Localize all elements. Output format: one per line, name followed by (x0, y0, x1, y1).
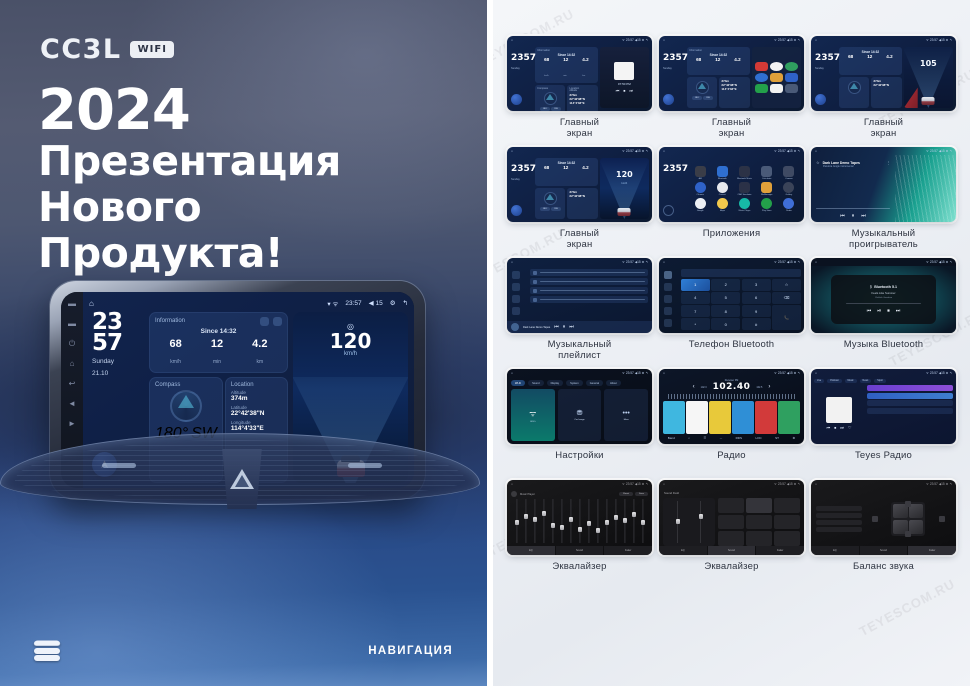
station-list[interactable] (867, 385, 953, 442)
camera-icon[interactable] (783, 166, 794, 177)
dialpad-key[interactable]: 2 (711, 279, 740, 291)
folder-icon[interactable] (761, 182, 772, 193)
contacts-icon[interactable] (664, 283, 672, 291)
app-item[interactable]: Google (690, 198, 710, 212)
search-icon[interactable]: ⌕ (688, 436, 690, 440)
hw-button-mute[interactable]: ▬ (68, 320, 76, 328)
app-item[interactable]: FileManager (757, 182, 777, 196)
previous-icon[interactable]: ⏮ (554, 324, 559, 330)
app-icon[interactable] (785, 73, 798, 82)
tab-sound[interactable]: Sound (528, 380, 544, 386)
station-item[interactable] (867, 400, 953, 406)
mini-player-bar[interactable]: Dark Lane Demo Tapes ⏮ ⏸ ⏭ (507, 321, 652, 333)
tab-wifi[interactable]: Wi-Fi (511, 380, 525, 386)
favorite-icon[interactable]: ☆ (816, 160, 820, 165)
chrome-icon[interactable] (695, 182, 706, 193)
mini-media-card[interactable]: 07:50 PM ⏮⏹⏭ (600, 47, 649, 108)
preset-grid[interactable] (718, 498, 800, 546)
eq-knob[interactable] (578, 527, 582, 532)
preset-button[interactable] (816, 527, 862, 532)
seek-up-icon[interactable]: › (768, 384, 770, 390)
mini-compass-card[interactable]: 180°SW (535, 188, 565, 219)
thumb-home-drive[interactable]: ⌂ᯤ 23:57 ◀15 ⚙ ↰ 2357Sunday Since 14:32 … (811, 36, 956, 111)
app-icon[interactable] (785, 84, 798, 93)
thumb-music-playlist[interactable]: ⌂ᯤ 23:57 ◀15 ⚙ ↰ (507, 258, 652, 333)
preset-cell[interactable] (774, 531, 800, 546)
gallery-cell[interactable]: ⌂ᯤ 23:57 ◀15 ⚙ ↰ 2357Sunday Since 14:32 … (507, 147, 652, 254)
thumb-home-apps[interactable]: ⌂ᯤ 23:57 ◀15 ⚙ ↰ 2357Sunday Information … (659, 36, 804, 111)
balance-presets[interactable] (816, 506, 862, 532)
playback-controls[interactable]: ⏮⏹⏭♡ (827, 425, 852, 430)
app-item[interactable]: Contact (712, 182, 732, 196)
station-item[interactable] (867, 408, 953, 414)
folders-icon[interactable] (512, 307, 520, 315)
app-item[interactable]: Camera (779, 166, 799, 180)
app-icon[interactable] (770, 73, 783, 82)
dialpad-key[interactable]: 9 (742, 305, 771, 317)
previous-icon[interactable]: ⏮ (616, 88, 620, 93)
app-item[interactable]: Music Player (734, 198, 754, 212)
playlist-sidebar[interactable] (507, 266, 526, 321)
equalizer-icon[interactable]: ⏤ (720, 436, 722, 440)
teyes-radio-page[interactable]: Live Podcast Music News Sport ⏮ (811, 377, 956, 444)
thumb-bt-phone[interactable]: ⌂ᯤ 23:57 ◀15 ⚙ ↰ 1 (659, 258, 804, 333)
eq-band[interactable] (513, 499, 520, 543)
thumb-home-speed[interactable]: ⌂ᯤ 23:57 ◀15 ⚙ ↰ 2357Sunday Since 14:32 … (507, 147, 652, 222)
eq-band[interactable] (522, 499, 529, 543)
contacts-icon[interactable] (717, 182, 728, 193)
call-icon[interactable]: 📞 (772, 305, 801, 330)
tab-sound-field[interactable]: Sound (708, 546, 756, 555)
reset-button[interactable]: Reset (619, 492, 633, 496)
stat-distance-unit: km (256, 359, 263, 365)
fader-rear-button[interactable] (905, 531, 911, 537)
refresh-icon[interactable] (260, 317, 269, 326)
next-icon[interactable]: ⏭ (861, 213, 866, 219)
list-item[interactable] (530, 278, 648, 285)
balance-page[interactable] (811, 488, 956, 546)
previous-icon[interactable]: ⏮ (827, 425, 831, 430)
backspace-icon[interactable]: ⌫ (772, 292, 801, 304)
tab-sound-field[interactable]: Sound (860, 546, 908, 555)
mini-information-card[interactable]: Since 14:32 68 12 4.2 (839, 47, 902, 75)
eq-band[interactable] (621, 499, 628, 543)
tab-eq[interactable]: EQ (507, 546, 555, 555)
eq-knob[interactable] (632, 512, 636, 517)
station-item[interactable] (867, 385, 953, 391)
tab-sound-field[interactable]: Sound (556, 546, 604, 555)
tab-balance[interactable]: Fader (756, 546, 804, 555)
gallery-cell[interactable]: ⌂ᯤ 23:57 ◀15 ⚙ ↰ 2357Sunday Since 14:32 … (811, 36, 956, 143)
gallery-cell[interactable]: ⌂ᯤ 23:57 ◀15 ⚙ ↰ ☆ Dark Lane Demo Tapes … (811, 147, 956, 254)
bt-music-card: ᛒBluetooth 5.1 Feels Like Summer Childis… (831, 275, 935, 325)
list-item[interactable] (530, 296, 648, 303)
information-card[interactable]: Information Since 14:32 (149, 312, 288, 373)
progress-bar[interactable] (816, 208, 890, 210)
mini-information-card[interactable]: Information Since 14:32 68 12 4.2 (687, 47, 750, 75)
dialpad-key[interactable]: * (681, 318, 710, 330)
thumb-equalizer[interactable]: ⌂ᯤ 23:57 ◀15 ⚙ ↰ Music Player ResetSave (507, 480, 652, 555)
dialpad-key[interactable]: 0 (711, 318, 740, 330)
slider-knob[interactable] (676, 519, 680, 524)
thumb-settings[interactable]: ⌂ᯤ 23:57 ◀15 ⚙ ↰ Wi-Fi Sound Display Sys… (507, 369, 652, 444)
app-label: CAR Simulator (738, 194, 752, 196)
clock-day: Sunday (92, 358, 144, 366)
settings-page[interactable]: Wi-Fi Sound Display System General About… (507, 377, 652, 444)
eq-band[interactable] (603, 499, 610, 543)
navigation-fab[interactable] (511, 94, 522, 105)
thumb-status-bar: ⌂ᯤ 23:57 ◀15 ⚙ ↰ (659, 480, 804, 488)
eq-band[interactable] (567, 499, 574, 543)
tuner-row[interactable]: ‹ 102.3 102.40 102.5 › (662, 382, 801, 392)
thumb-caption: Музыкальныйпроигрыватель (849, 229, 918, 254)
eq-band[interactable] (576, 499, 583, 543)
app-grid[interactable]: AM Bluetooth Bluetooth Music Calculator … (685, 155, 804, 222)
volume-down-icon[interactable]: ◄ (68, 400, 76, 408)
app-label: Maps (720, 210, 725, 212)
equalizer-tabs[interactable]: EQ Sound Fader (811, 546, 956, 555)
equalizer-bands[interactable] (511, 499, 648, 546)
app-item[interactable]: Bluetooth Music (734, 166, 754, 180)
thumb-teyes-radio[interactable]: ⌂ᯤ 23:57 ◀15 ⚙ ↰ Live Podcast Music News… (811, 369, 956, 444)
tab-live[interactable]: Live (814, 379, 824, 383)
back-icon[interactable]: ↰ (403, 299, 408, 307)
dialpad-icon[interactable] (664, 271, 672, 279)
tab-general[interactable]: General (586, 380, 603, 386)
more-card[interactable]: •••More (604, 389, 648, 441)
media-controls[interactable]: ⏮⏹⏭ (616, 88, 633, 93)
list-item[interactable] (530, 269, 648, 276)
eq-knob[interactable] (614, 515, 618, 520)
next-icon[interactable]: ⏭ (896, 308, 901, 314)
app-icon[interactable] (695, 166, 706, 177)
balance-pad-area[interactable] (866, 502, 951, 536)
eq-knob[interactable] (596, 528, 600, 533)
tab-podcast[interactable]: Podcast (827, 379, 841, 383)
dialpad-key[interactable]: 1 (681, 279, 710, 291)
eq-knob[interactable] (587, 521, 591, 526)
home-icon[interactable]: ⌂ (89, 299, 94, 308)
settings-icon[interactable]: ⚙ (793, 436, 796, 440)
thumb-equalizer-2[interactable]: ⌂ᯤ 23:57 ◀15 ⚙ ↰ Sound Field (659, 480, 804, 555)
dialpad-key[interactable]: # (742, 318, 771, 330)
dialpad-key[interactable]: 8 (711, 305, 740, 317)
eq-knob[interactable] (605, 520, 609, 525)
app-item[interactable]: Chrome (690, 182, 710, 196)
navigation-fab[interactable] (511, 205, 522, 216)
tab-balance[interactable]: Fader (604, 546, 652, 555)
google-icon[interactable] (695, 198, 706, 209)
track-thumb (533, 280, 537, 284)
slider[interactable] (677, 501, 678, 543)
search-icon[interactable] (512, 283, 520, 291)
tab-system[interactable]: System (566, 380, 583, 386)
app-item[interactable]: Radio (779, 198, 799, 212)
next-icon[interactable]: ⏭ (840, 425, 844, 430)
thumb-bt-music[interactable]: ⌂ᯤ 23:57 ◀15 ⚙ ↰ ᛒBluetooth 5.1 Feels Li… (811, 258, 956, 333)
preset-button[interactable] (732, 401, 754, 434)
seek-down-icon[interactable]: ‹ (693, 384, 695, 390)
back-icon[interactable]: ↩ (68, 380, 76, 388)
app-icon[interactable] (755, 84, 768, 93)
preset-button[interactable] (709, 401, 731, 434)
eq-knob[interactable] (542, 511, 546, 516)
preset-cell[interactable] (718, 531, 744, 546)
eq-band[interactable] (558, 499, 565, 543)
radio-presets[interactable] (662, 401, 801, 434)
gallery-cell[interactable]: ⌂ᯤ 23:57 ◀15 ⚙ ↰ (811, 480, 956, 587)
preset-cell[interactable] (774, 498, 800, 513)
play-pause-icon[interactable]: ⏯ (877, 308, 881, 314)
app-item[interactable]: Maps (712, 198, 732, 212)
gallery-cell[interactable]: ⌂ᯤ 23:57 ◀15 ⚙ ↰ ᛒBluetooth 5.1 Feels Li… (811, 258, 956, 365)
mini-clock: 2357Sunday (659, 44, 685, 111)
slider-knob[interactable] (699, 514, 703, 519)
equalizer-tabs[interactable]: EQ Sound Fader (507, 546, 652, 555)
next-icon[interactable]: ⏭ (629, 88, 633, 93)
list-icon[interactable]: ☰ (703, 436, 706, 440)
eq-band[interactable] (630, 499, 637, 543)
tab-news[interactable]: News (860, 379, 872, 383)
equalizer-actions[interactable]: ResetSave (619, 492, 648, 496)
app-item[interactable]: Calculator (757, 166, 777, 180)
preset-button[interactable] (663, 401, 685, 434)
dialpad-key[interactable]: 4 (681, 292, 710, 304)
call-history-icon[interactable] (664, 307, 672, 315)
expand-icon[interactable] (273, 317, 282, 326)
gallery-cell[interactable]: ⌂ᯤ 23:57 ◀15 ⚙ ↰ Receiver FM ‹ 102.3 102… (659, 369, 804, 476)
footer-label: НАВИГАЦИЯ (368, 645, 453, 657)
thumb-status-bar: ⌂ᯤ 23:57 ◀15 ⚙ ↰ (659, 36, 804, 44)
app-icon[interactable] (755, 62, 768, 71)
preset-cell[interactable] (774, 515, 800, 530)
tab-balance[interactable]: Fader (908, 546, 956, 555)
dialpad-keys[interactable]: 1 2 3 ☆ 4 5 6 ⌫ 7 8 9 📞 (681, 279, 801, 330)
thumb-app-drawer[interactable]: ⌂ᯤ 23:57 ◀15 ⚙ ↰ 2357 AM Bluetooth Bluet… (659, 147, 804, 222)
gallery-cell[interactable]: ⌂ᯤ 23:57 ◀15 ⚙ ↰ 1 (659, 258, 804, 365)
previous-icon[interactable]: ⏮ (867, 308, 872, 314)
eq-band[interactable] (594, 499, 601, 543)
thumb-music-player[interactable]: ⌂ᯤ 23:57 ◀15 ⚙ ↰ ☆ Dark Lane Demo Tapes … (811, 147, 956, 222)
playlist-rows[interactable] (526, 266, 652, 321)
settings-cards[interactable]: ᯤWi-Fi ⛃Car Image •••More (511, 389, 648, 441)
gallery-icon[interactable] (783, 182, 794, 193)
preset-button[interactable] (816, 506, 862, 511)
preset-button[interactable] (816, 513, 862, 518)
app-item[interactable]: Bluetooth (712, 166, 732, 180)
eq-knob[interactable] (524, 514, 528, 519)
gallery-cell[interactable]: ⌂ᯤ 23:57 ◀15 ⚙ ↰ (507, 258, 652, 365)
eq-knob[interactable] (569, 517, 573, 522)
balance-left-button[interactable] (872, 516, 878, 522)
pause-icon[interactable]: ⏸ (852, 213, 855, 219)
preset-button[interactable] (755, 401, 777, 434)
settings-icon[interactable] (664, 319, 672, 327)
fader-front-button[interactable] (905, 501, 911, 507)
mini-compass-card[interactable] (839, 77, 869, 108)
mini-location-card[interactable]: 374m22°42'38"N (871, 77, 901, 108)
app-icon[interactable] (770, 62, 783, 71)
eq-band[interactable] (531, 499, 538, 543)
calculator-icon[interactable] (761, 166, 772, 177)
progress-bar[interactable] (846, 303, 921, 305)
preset-cell[interactable] (718, 498, 744, 513)
pause-icon[interactable]: ⏸ (563, 324, 566, 330)
navigation-fab[interactable] (663, 94, 674, 105)
mini-drive-view[interactable]: 105 (904, 47, 953, 108)
stereo-icon[interactable]: ST (775, 436, 779, 440)
app-label: FileManager (761, 194, 773, 196)
balance-right-button[interactable] (939, 516, 945, 522)
previous-icon[interactable]: ⏮ (840, 213, 845, 219)
vent-slider-right[interactable] (348, 463, 382, 468)
mini-information-card[interactable]: Since 14:32 68 12 4.2 (535, 158, 598, 186)
gallery-cell[interactable]: ⌂ᯤ 23:57 ◀15 ⚙ ↰ Music Player ResetSave (507, 480, 652, 587)
favorites-icon[interactable] (512, 295, 520, 303)
preset-cell[interactable] (718, 515, 744, 530)
phone-sidebar[interactable] (659, 266, 678, 333)
tab-eq[interactable]: EQ (659, 546, 707, 555)
all-songs-icon[interactable] (512, 271, 520, 279)
eq-knob[interactable] (623, 518, 627, 523)
eq-knob[interactable] (515, 520, 519, 525)
speed-readout: ◎ 120 km/h (293, 322, 408, 357)
information-actions[interactable] (260, 317, 282, 326)
gear-icon[interactable]: ⚙ (390, 299, 396, 307)
gallery-cell[interactable]: ⌂ᯤ 23:57 ◀15 ⚙ ↰ Live Podcast Music News… (811, 369, 956, 476)
thumb-radio[interactable]: ⌂ᯤ 23:57 ◀15 ⚙ ↰ Receiver FM ‹ 102.3 102… (659, 369, 804, 444)
search-icon[interactable] (664, 295, 672, 303)
mini-location-card[interactable]: 374m22°42'38"N114°4'33"E (719, 77, 749, 108)
maps-icon[interactable] (717, 198, 728, 209)
eq-knob[interactable] (641, 520, 645, 525)
dialpad-key[interactable]: 3 (742, 279, 771, 291)
eq-knob[interactable] (533, 517, 537, 522)
app-item[interactable]: Play Store (757, 198, 777, 212)
preset-icon[interactable] (511, 491, 517, 497)
eq-band[interactable] (639, 499, 646, 543)
sound-field-page[interactable] (659, 495, 804, 546)
playback-controls[interactable]: ⏮⏸⏭ (816, 213, 890, 219)
hw-button-menu[interactable]: ▬ (68, 300, 76, 308)
music-icon[interactable] (739, 198, 750, 209)
preset-button[interactable] (778, 401, 800, 434)
eq-band[interactable] (612, 499, 619, 543)
eq-band[interactable] (585, 499, 592, 543)
preset-cell[interactable] (746, 498, 772, 513)
slider[interactable] (700, 501, 701, 543)
navigation-fab[interactable] (815, 94, 826, 105)
back-icon[interactable] (663, 205, 674, 216)
bluetooth-icon[interactable] (717, 166, 728, 177)
radio-toolbar[interactable]: Band ⌕ ☰ ⏤ RDS LOC ST ⚙ (662, 434, 801, 442)
eq-band[interactable] (540, 499, 547, 543)
gallery-cell[interactable]: ⌂ᯤ 23:57 ◀15 ⚙ ↰ Wi-Fi Sound Display Sys… (507, 369, 652, 476)
mini-compass-card[interactable]: Compass 180°SW (535, 85, 565, 111)
wifi-card[interactable]: ᯤWi-Fi (511, 389, 555, 441)
mini-drive-view[interactable]: 120km/h (600, 158, 649, 219)
tab-about[interactable]: About (606, 380, 621, 386)
band-button[interactable]: Band (668, 436, 675, 440)
mini-compass-card[interactable]: 180°SW (687, 77, 717, 108)
favorite-icon[interactable]: ♡ (848, 425, 852, 430)
dialpad-key[interactable]: 5 (711, 292, 740, 304)
add-contact-icon[interactable]: ☆ (772, 279, 801, 291)
station-item[interactable] (867, 393, 953, 399)
level-sliders[interactable] (663, 498, 715, 546)
car-image-card[interactable]: ⛃Car Image (558, 389, 602, 441)
mini-location-card[interactable]: 374m22°42'38"N (567, 188, 597, 219)
play-store-icon[interactable] (761, 198, 772, 209)
dialpad-key[interactable]: 6 (742, 292, 771, 304)
app-item[interactable]: AM (690, 166, 710, 180)
preset-button[interactable] (686, 401, 708, 434)
save-button[interactable]: Save (635, 492, 648, 496)
dialpad-key[interactable]: 7 (681, 305, 710, 317)
app-item[interactable]: CAR Simulator (734, 182, 754, 196)
eq-knob[interactable] (560, 525, 564, 530)
next-icon[interactable]: ⏭ (569, 324, 574, 330)
tab-display[interactable]: Display (547, 380, 564, 386)
stop-icon[interactable]: ⏹ (887, 308, 890, 314)
playback-controls[interactable]: ⏮ ⏯ ⏹ ⏭ (867, 308, 901, 314)
gallery-cell[interactable]: ⌂ᯤ 23:57 ◀15 ⚙ ↰ Sound Field (659, 480, 804, 587)
gallery-cell[interactable]: ⌂ᯤ 23:57 ◀15 ⚙ ↰ 2357Sunday Information … (659, 36, 804, 143)
equalizer-tabs[interactable]: EQ Sound Fader (659, 546, 804, 555)
mini-location-card[interactable]: Location Altitude 374m 22°42'38"N 114°4'… (567, 85, 597, 111)
thumb-home-media[interactable]: ⌂ᯤ 23:57 ◀15 ⚙ ↰ 2357Sunday Information … (507, 36, 652, 111)
stop-icon[interactable]: ⏹ (834, 425, 836, 430)
settings-tabs[interactable]: Wi-Fi Sound Display System General About (511, 380, 648, 386)
tab-eq[interactable]: EQ (811, 546, 859, 555)
app-icon[interactable] (785, 62, 798, 71)
mini-information-card[interactable]: Information Since 14:32 68km/h 12min 4.2… (535, 47, 598, 83)
eq-knob[interactable] (551, 523, 555, 528)
radio-page[interactable]: Receiver FM ‹ 102.3 102.40 102.5 › (659, 377, 804, 444)
vent-slider-left[interactable] (102, 463, 136, 468)
thumb-balance[interactable]: ⌂ᯤ 23:57 ◀15 ⚙ ↰ (811, 480, 956, 555)
app-item[interactable]: Gallery (779, 182, 799, 196)
frequency-scale[interactable] (668, 394, 795, 399)
home-icon[interactable]: ⌂ (68, 360, 76, 368)
preset-button[interactable] (816, 520, 862, 525)
app-icon[interactable] (770, 84, 783, 93)
equalizer-page[interactable]: Music Player ResetSave (507, 488, 652, 546)
mini-app-shortcuts[interactable] (752, 47, 801, 108)
app-icon[interactable] (755, 73, 768, 82)
more-icon[interactable]: ⋮ (887, 161, 891, 165)
stop-icon[interactable]: ⏹ (623, 88, 625, 93)
teyes-tabs[interactable]: Live Podcast Music News Sport (814, 379, 953, 383)
dialpad[interactable]: 1 2 3 ☆ 4 5 6 ⌫ 7 8 9 📞 (678, 266, 804, 333)
stat-distance: 4.2 km (252, 338, 267, 368)
list-item[interactable] (530, 287, 648, 294)
eq-band[interactable] (549, 499, 556, 543)
app-icon[interactable] (739, 182, 750, 193)
radio-icon[interactable] (783, 198, 794, 209)
phone-number-input[interactable] (681, 269, 801, 277)
preset-cell[interactable] (746, 515, 772, 530)
gallery-cell[interactable]: ⌂ᯤ 23:57 ◀15 ⚙ ↰ 2357Sunday Information … (507, 36, 652, 143)
rds-icon[interactable]: RDS (736, 436, 742, 440)
gallery-cell[interactable]: ⌂ᯤ 23:57 ◀15 ⚙ ↰ 2357 AM Bluetooth Bluet… (659, 147, 804, 254)
tab-sport[interactable]: Sport (874, 379, 886, 383)
preset-cell[interactable] (746, 531, 772, 546)
tab-music[interactable]: Music (845, 379, 857, 383)
power-icon[interactable]: ⏻ (68, 340, 76, 348)
loc-icon[interactable]: LOC (755, 436, 761, 440)
app-icon[interactable] (739, 166, 750, 177)
